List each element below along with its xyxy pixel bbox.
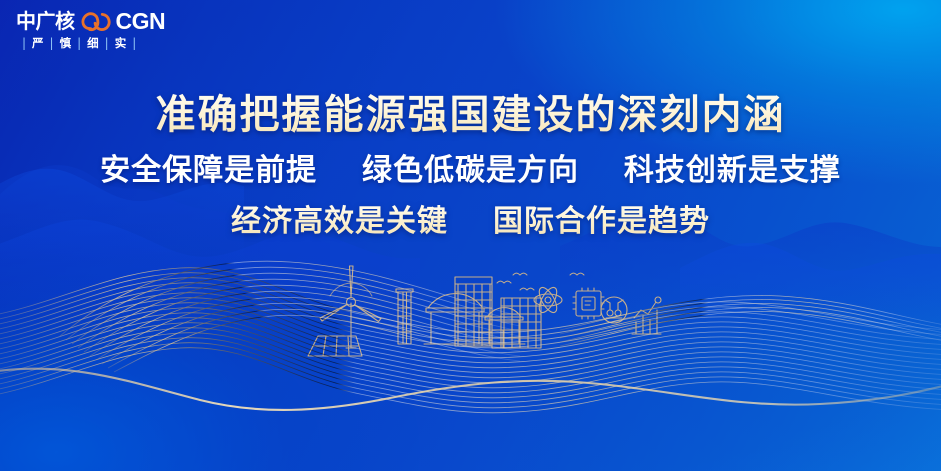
sub1-part-0: 安全保障是前提: [100, 153, 317, 188]
motto-separator-2: |: [77, 36, 81, 50]
motto-char-3: 实: [115, 36, 127, 50]
logo-primary-row: 中广核 CGN: [16, 9, 165, 34]
sub-headline-line-1: 安全保障是前提 绿色低碳是方向 科技创新是支撑: [0, 151, 941, 191]
growth-chart-icon: [632, 297, 661, 334]
sub1-part-1: 绿色低碳是方向: [362, 153, 579, 188]
solar-panel-icon: [308, 336, 362, 356]
smart-tech-icon: [601, 297, 627, 323]
logo-chinese-name: 中广核: [16, 9, 75, 34]
sub2-part-0: 经济高效是关键: [231, 204, 448, 239]
cgn-swirl-icon: [78, 9, 114, 34]
motto-separator-4: |: [132, 36, 136, 50]
podium-building-icon: [492, 330, 503, 348]
microchip-icon: [573, 288, 604, 319]
cgn-energy-banner: 中广核 CGN | 严 | 慎 | 细 | 实 | 准确把握能源强国建设的深刻内…: [0, 0, 941, 471]
atom-icon: [534, 285, 562, 315]
main-headline: 准确把握能源强国建设的深刻内涵: [0, 90, 941, 140]
office-tower-icon: [455, 277, 492, 346]
stadium-dome-icon: [424, 294, 487, 344]
birds-icon: [497, 273, 584, 290]
logo-motto-row: | 严 | 慎 | 细 | 实 |: [16, 36, 165, 50]
sub1-part-2: 科技创新是支撑: [624, 153, 841, 188]
office-block-icon: [501, 298, 541, 348]
motto-char-0: 严: [32, 36, 44, 50]
sub2-part-1: 国际合作是趋势: [493, 204, 710, 239]
logo-english-name: CGN: [116, 9, 166, 34]
transmission-tower-icon: [396, 289, 413, 344]
wind-turbine-icon: [320, 266, 381, 348]
stadium-dome-small-icon: [483, 308, 525, 344]
motto-char-2: 细: [87, 36, 99, 50]
motto-separator-3: |: [105, 36, 109, 50]
gold-accent-curve: [0, 369, 941, 410]
cgn-logo[interactable]: 中广核 CGN | 严 | 慎 | 细 | 实 |: [16, 9, 165, 50]
motto-separator-0: |: [22, 36, 26, 50]
motto-separator-1: |: [50, 36, 54, 50]
motto-char-1: 慎: [60, 36, 72, 50]
sub-headline-line-2: 经济高效是关键 国际合作是趋势: [0, 202, 941, 242]
